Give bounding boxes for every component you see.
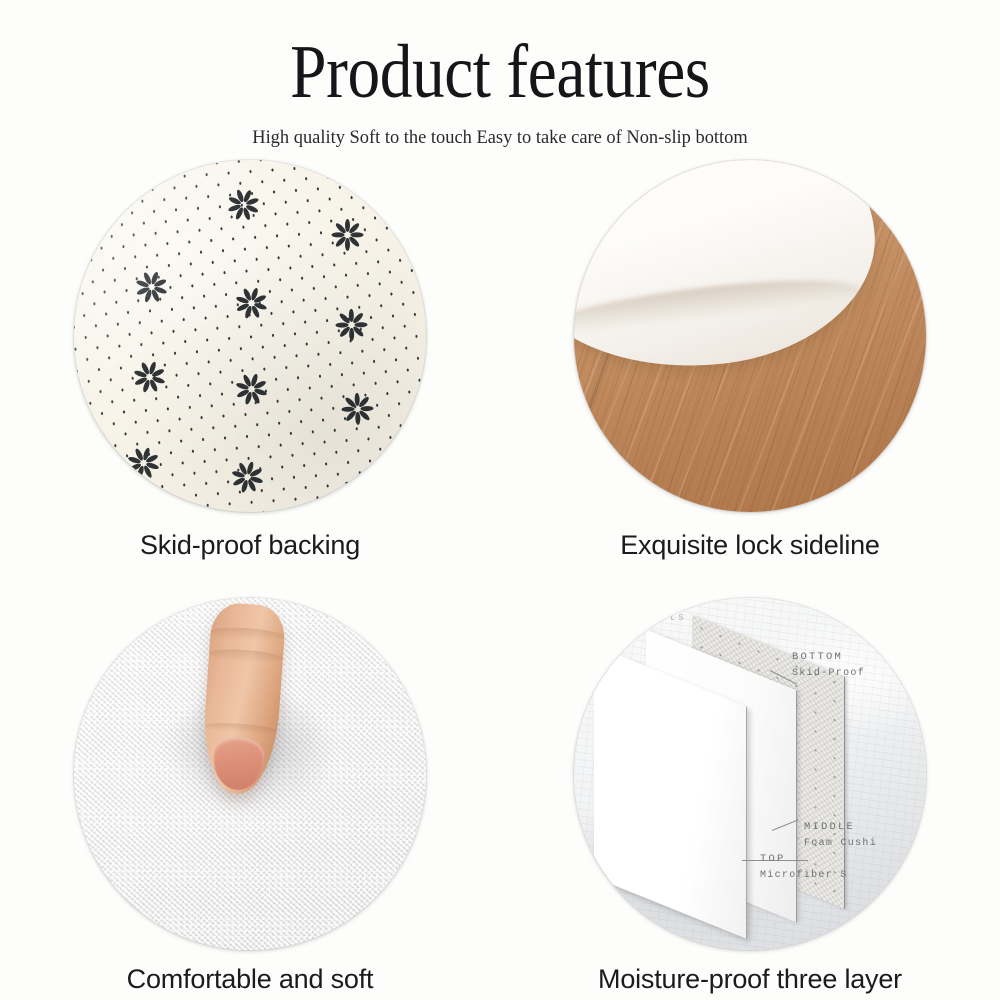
knuckle-crease: [209, 648, 284, 665]
flower-icon: [333, 385, 381, 433]
backing-flower-motifs: [74, 160, 426, 512]
flower-icon: [216, 178, 270, 232]
product-features-page: Product features High quality Soft to th…: [0, 0, 1000, 1000]
flower-icon: [224, 276, 277, 329]
knuckle-crease: [204, 721, 278, 735]
layer-label-bottom-title: BOTTOM: [792, 650, 865, 666]
header: Product features High quality Soft to th…: [0, 0, 1000, 149]
skid-proof-backing-photo: [74, 160, 426, 512]
flower-icon: [327, 301, 374, 348]
page-subtitle: High quality Soft to the touch Easy to t…: [15, 127, 985, 149]
layer-label-bottom: BOTTOM Skid-Proof: [792, 650, 865, 681]
layer-label-middle-title: MIDDLE: [804, 820, 877, 836]
feature-exquisite-lock-sideline: Exquisite lock sideline: [500, 160, 1000, 561]
flower-icon: [128, 264, 174, 310]
comfortable-soft-photo: [74, 598, 426, 950]
feature-caption: Exquisite lock sideline: [620, 530, 880, 561]
flower-icon: [121, 441, 166, 486]
knuckle-crease: [210, 626, 285, 643]
layer-label-bottom-subtitle: Skid-Proof: [792, 666, 865, 681]
feature-image-wrap: roducts BOTTOM Skid-Proof MIDDLE: [574, 598, 926, 950]
flower-icon: [324, 212, 371, 259]
watermark-text: roducts: [626, 612, 686, 624]
flower-icon: [333, 469, 382, 512]
feature-image-wrap: [574, 160, 926, 512]
features-row-2: Comfortable and soft roducts: [0, 561, 1000, 995]
features-row-1: Skid-proof backing Exquisite lock sideli…: [0, 160, 1000, 561]
flower-icon: [225, 363, 278, 416]
feature-image-wrap: [74, 598, 426, 950]
layer-label-top-subtitle: Microfiber S: [760, 868, 848, 883]
three-layer-diagram-photo: roducts BOTTOM Skid-Proof MIDDLE: [574, 598, 926, 950]
layer-label-top-title: TOP: [760, 852, 848, 868]
feature-image-wrap: [74, 160, 426, 512]
layer-label-top: TOP Microfiber S: [760, 852, 848, 883]
feature-caption: Comfortable and soft: [127, 964, 374, 995]
feature-caption: Skid-proof backing: [140, 530, 360, 561]
lock-sideline-photo: [574, 160, 926, 512]
flower-icon: [221, 451, 273, 503]
feature-caption: Moisture-proof three layer: [598, 964, 902, 995]
feature-skid-proof-backing: Skid-proof backing: [0, 160, 500, 561]
features-grid: Skid-proof backing Exquisite lock sideli…: [0, 160, 1000, 995]
page-title: Product features: [70, 34, 930, 110]
layer-label-middle-subtitle: Foam Cushi: [804, 836, 877, 851]
flower-icon: [126, 354, 172, 400]
feature-moisture-proof-three-layer: roducts BOTTOM Skid-Proof MIDDLE: [500, 598, 1000, 995]
layer-label-middle: MIDDLE Foam Cushi: [804, 820, 877, 851]
feature-comfortable-and-soft: Comfortable and soft: [0, 598, 500, 995]
